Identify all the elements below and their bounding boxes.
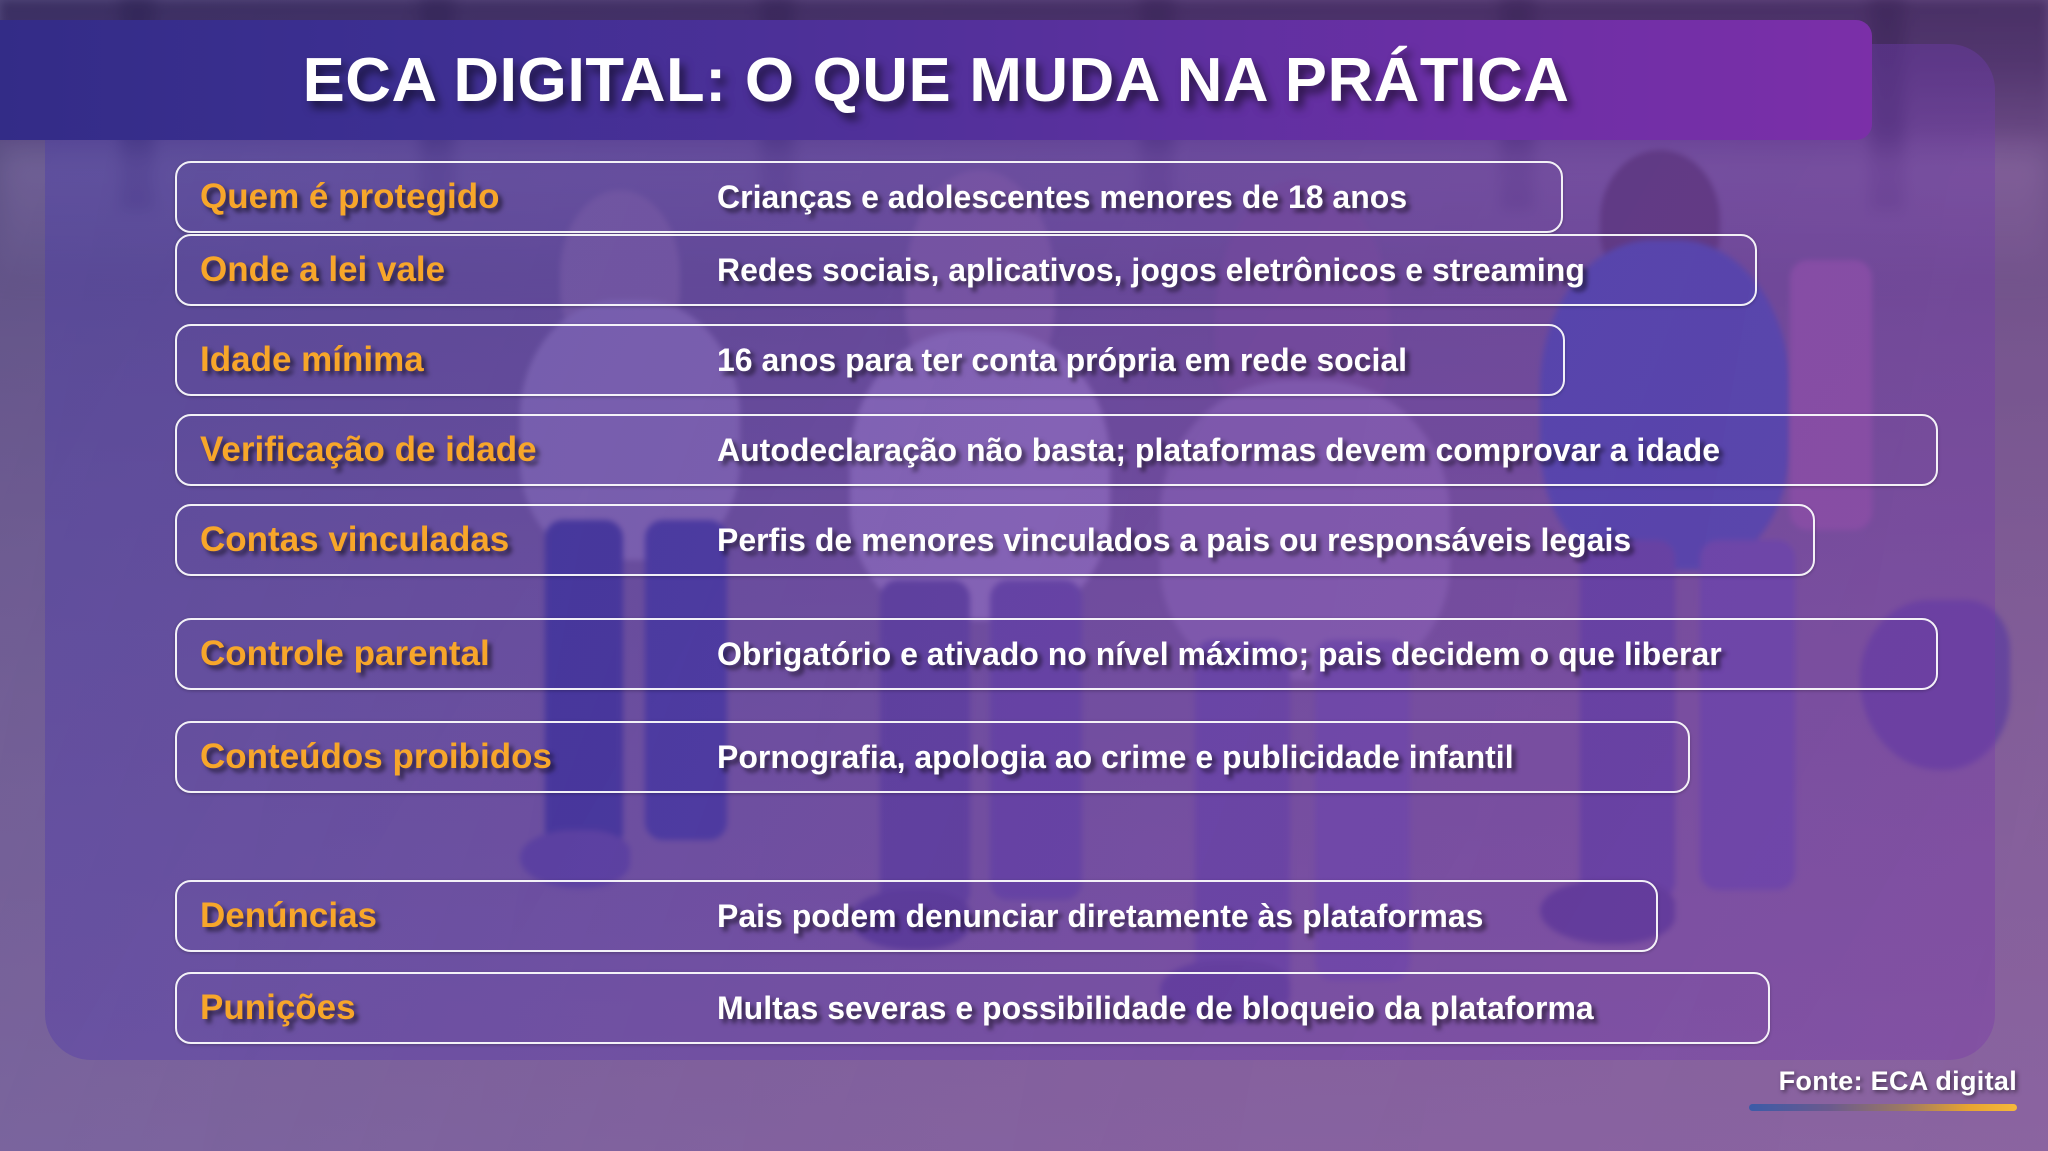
row-label: Denúncias: [200, 896, 377, 936]
row-label: Idade mínima: [200, 340, 424, 380]
row-description: Autodeclaração não basta; plataformas de…: [717, 432, 1720, 469]
row-description: Redes sociais, aplicativos, jogos eletrô…: [717, 252, 1585, 289]
row-description: 16 anos para ter conta própria em rede s…: [717, 342, 1407, 379]
table-row[interactable]: Denúncias Pais podem denunciar diretamen…: [175, 880, 1658, 952]
row-description: Pornografia, apologia ao crime e publici…: [717, 739, 1514, 776]
table-row[interactable]: Idade mínima 16 anos para ter conta próp…: [175, 324, 1565, 396]
table-row[interactable]: Punições Multas severas e possibilidade …: [175, 972, 1770, 1044]
table-row[interactable]: Contas vinculadas Perfis de menores vinc…: [175, 504, 1815, 576]
table-row[interactable]: Onde a lei vale Redes sociais, aplicativ…: [175, 234, 1757, 306]
table-row[interactable]: Quem é protegido Crianças e adolescentes…: [175, 161, 1563, 233]
row-label: Quem é protegido: [200, 177, 499, 217]
row-label: Controle parental: [200, 634, 490, 674]
row-label: Conteúdos proibidos: [200, 737, 552, 777]
row-label: Onde a lei vale: [200, 250, 445, 290]
table-row[interactable]: Verificação de idade Autodeclaração não …: [175, 414, 1938, 486]
row-label: Verificação de idade: [200, 430, 537, 470]
row-description: Pais podem denunciar diretamente às plat…: [717, 898, 1483, 935]
row-description: Crianças e adolescentes menores de 18 an…: [717, 179, 1407, 216]
source-attribution: Fonte: ECA digital: [1749, 1066, 2017, 1111]
source-underline: [1749, 1104, 2017, 1111]
row-label: Punições: [200, 988, 356, 1028]
row-description: Multas severas e possibilidade de bloque…: [717, 990, 1594, 1027]
row-description: Perfis de menores vinculados a pais ou r…: [717, 522, 1631, 559]
row-label: Contas vinculadas: [200, 520, 509, 560]
table-row[interactable]: Controle parental Obrigatório e ativado …: [175, 618, 1938, 690]
row-description: Obrigatório e ativado no nível máximo; p…: [717, 636, 1722, 673]
source-label: Fonte: ECA digital: [1749, 1066, 2017, 1097]
fact-row-list: Quem é protegido Crianças e adolescentes…: [0, 0, 2048, 1151]
table-row[interactable]: Conteúdos proibidos Pornografia, apologi…: [175, 721, 1690, 793]
